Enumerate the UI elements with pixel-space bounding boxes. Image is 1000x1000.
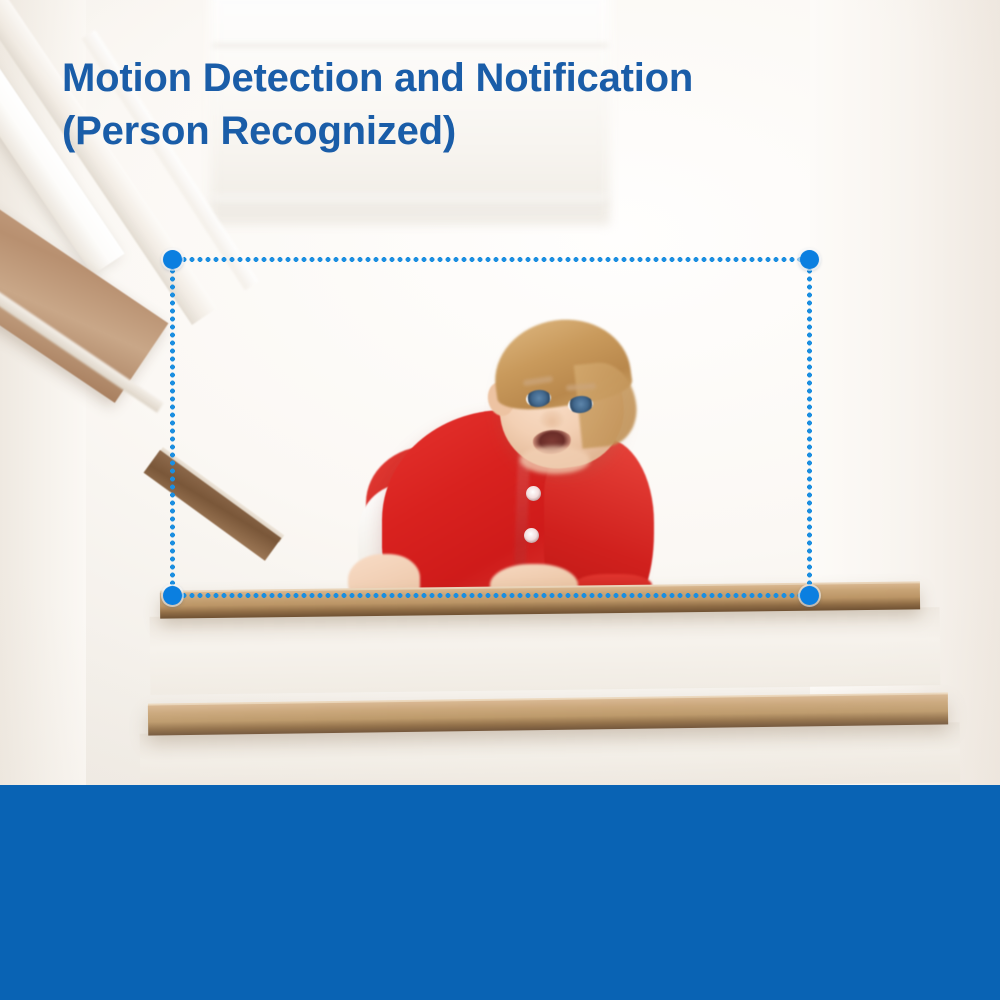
cardigan-button bbox=[526, 486, 541, 501]
page-title: Motion Detection and Notification (Perso… bbox=[62, 52, 942, 158]
title-line-2: (Person Recognized) bbox=[62, 105, 942, 158]
baby-chin bbox=[520, 446, 590, 474]
window-mullion bbox=[212, 44, 608, 47]
cardigan-button bbox=[524, 528, 539, 543]
window-sill bbox=[212, 196, 608, 206]
marketing-graphic: Motion Detection and Notification (Perso… bbox=[0, 0, 1000, 1000]
title-line-1: Motion Detection and Notification bbox=[62, 52, 942, 105]
bottom-banner: Control what alerts you receive by creat… bbox=[0, 785, 1000, 1000]
baby-crawling bbox=[330, 318, 670, 604]
baby-nose bbox=[539, 410, 565, 428]
upper-stair-riser bbox=[150, 607, 941, 695]
